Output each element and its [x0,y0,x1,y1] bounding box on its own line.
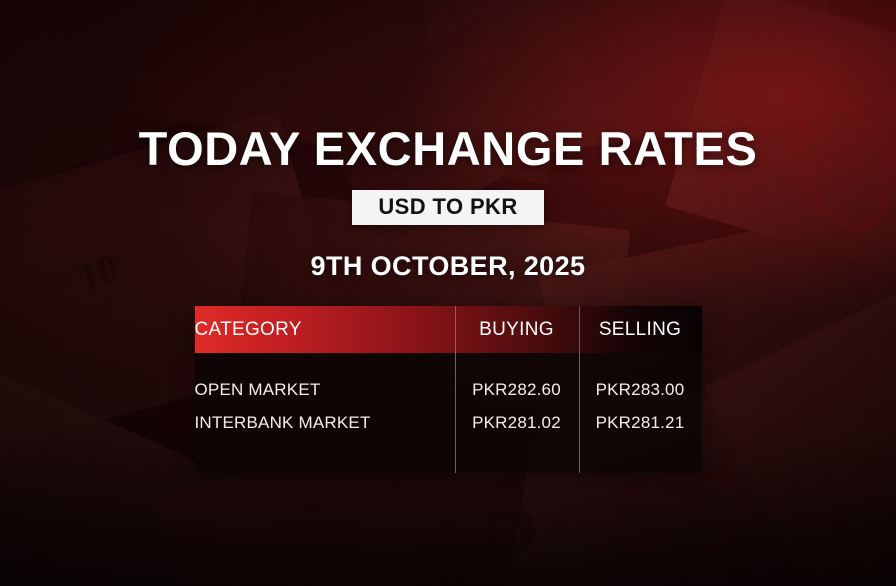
cell-category: OPEN MARKET [195,353,455,406]
table-header: CATEGORY BUYING SELLING [195,306,702,353]
page-title: TODAY EXCHANGE RATES [139,121,758,176]
exchange-rate-graphic: 5 10 J 3508677 10 EURO EURO EURO BCE ECB… [0,0,896,586]
cell-buying: PKR281.02 [455,406,579,473]
cell-selling: PKR281.21 [579,406,702,473]
cell-selling: PKR283.00 [579,353,702,406]
currency-pair-badge: USD TO PKR [352,190,543,225]
content-layer: TODAY EXCHANGE RATES USD TO PKR 9TH OCTO… [0,0,896,586]
table-header-row: CATEGORY BUYING SELLING [195,306,702,353]
table-body: OPEN MARKET PKR282.60 PKR283.00 INTERBAN… [195,353,702,473]
rate-date: 9TH OCTOBER, 2025 [311,251,586,282]
exchange-rates-table: CATEGORY BUYING SELLING OPEN MARKET PKR2… [195,306,702,473]
table-row: OPEN MARKET PKR282.60 PKR283.00 [195,353,702,406]
cell-category: INTERBANK MARKET [195,406,455,473]
column-header-selling: SELLING [579,306,702,353]
column-header-buying: BUYING [455,306,579,353]
column-header-category: CATEGORY [195,306,455,353]
table-row: INTERBANK MARKET PKR281.02 PKR281.21 [195,406,702,473]
cell-buying: PKR282.60 [455,353,579,406]
